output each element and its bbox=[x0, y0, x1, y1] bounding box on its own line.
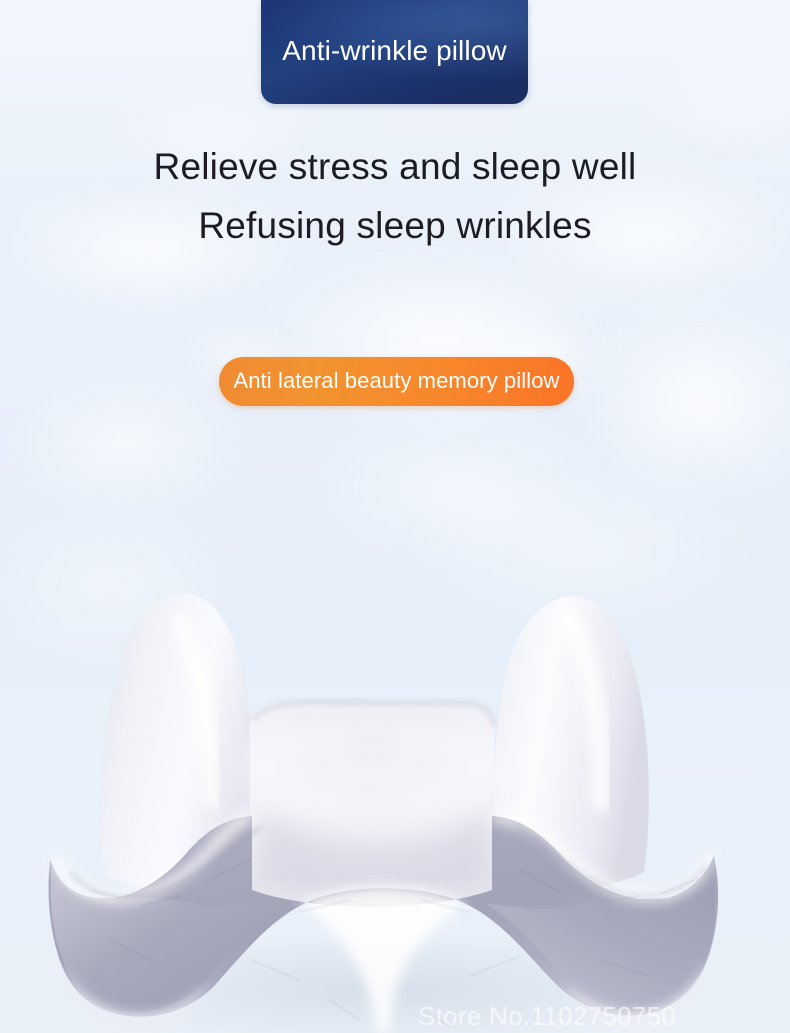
headline-line-1: Relieve stress and sleep well bbox=[0, 137, 790, 196]
pillow-top-sheen bbox=[242, 714, 502, 818]
feature-badge-label: Anti lateral beauty memory pillow bbox=[233, 370, 559, 393]
product-title-banner: Anti-wrinkle pillow bbox=[261, 0, 528, 104]
pillow-illustration bbox=[0, 560, 790, 1033]
headline-line-2: Refusing sleep wrinkles bbox=[0, 196, 790, 255]
product-image bbox=[0, 560, 790, 1033]
feature-badge: Anti lateral beauty memory pillow bbox=[219, 357, 574, 406]
store-watermark: Store No.1102750750 bbox=[418, 1002, 676, 1031]
page-title: Relieve stress and sleep well Refusing s… bbox=[0, 137, 790, 255]
product-banner-page: Anti-wrinkle pillow Relieve stress and s… bbox=[0, 0, 790, 1033]
product-title-label: Anti-wrinkle pillow bbox=[282, 37, 506, 67]
